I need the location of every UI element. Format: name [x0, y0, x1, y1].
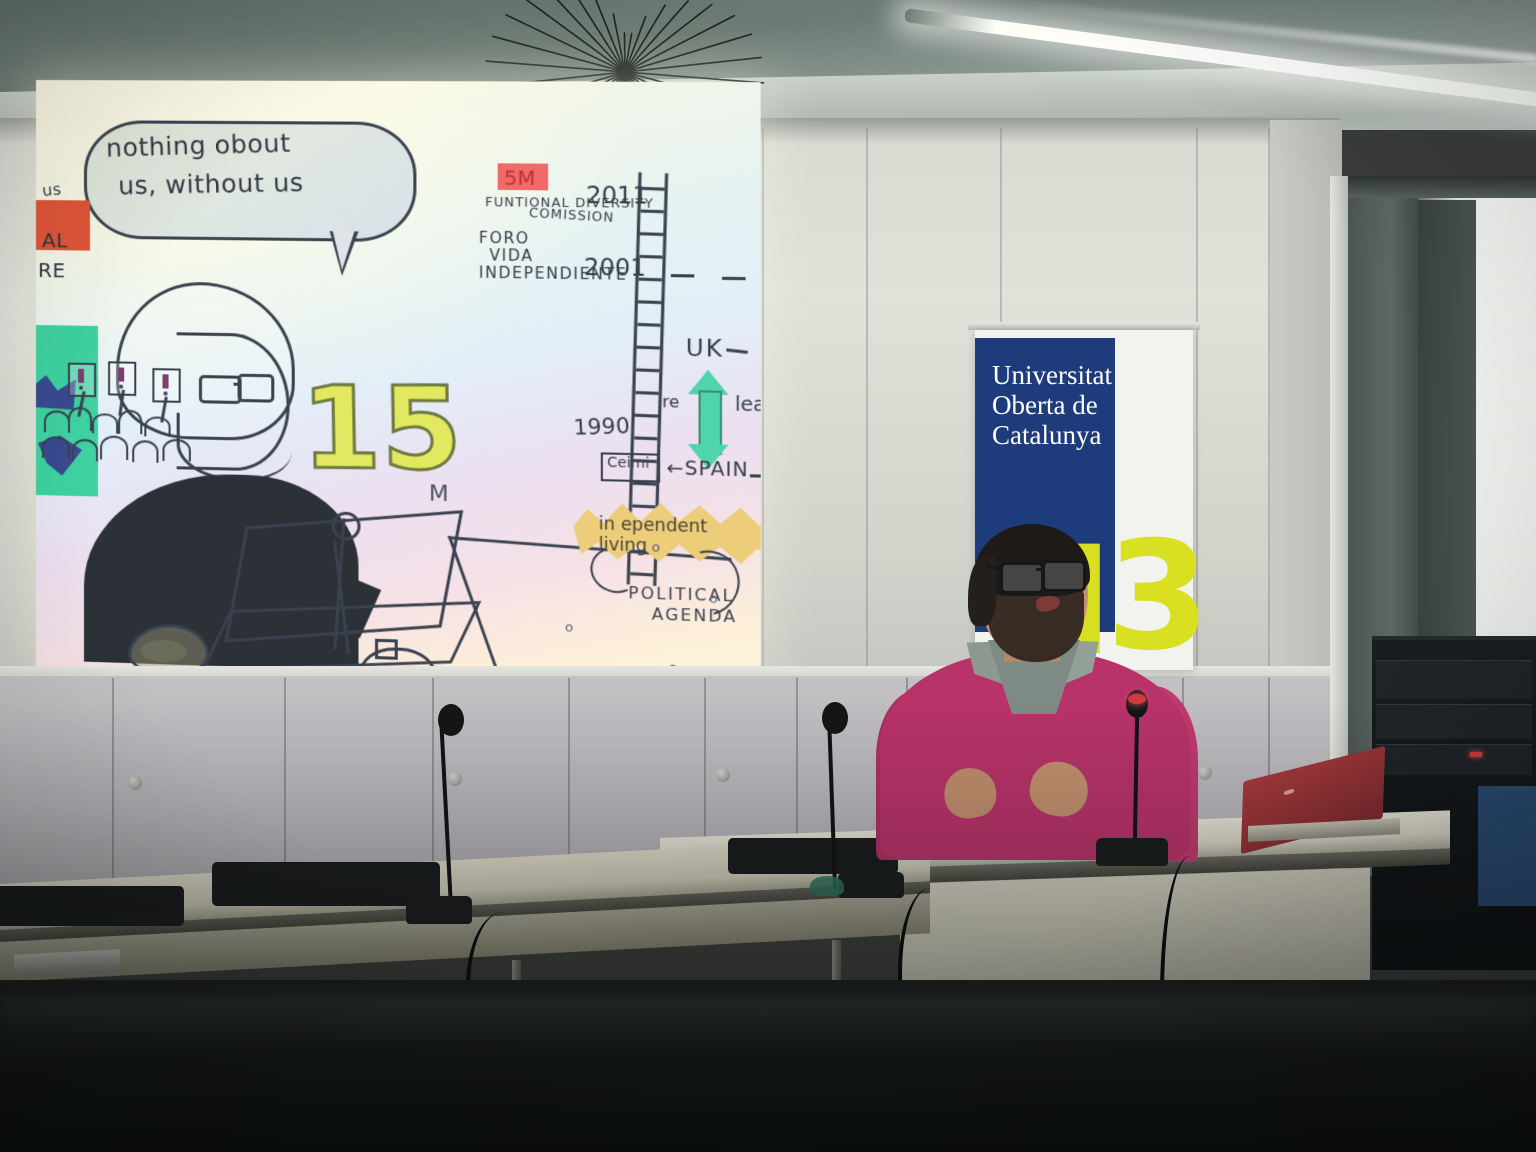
projected-slide: nothing obout us, without us us AL RE 15… [36, 80, 761, 692]
sketch-crowd [72, 439, 98, 462]
sketch-glasses-bridge [233, 383, 241, 386]
microphone-base-accent [810, 876, 844, 896]
av-rack-unit [1376, 744, 1532, 775]
presentation-room-photo: nothing obout us, without us us AL RE 15… [0, 0, 1536, 1152]
microphone-base[interactable] [838, 872, 904, 898]
wall-seam [1268, 128, 1270, 688]
microphone-capsule [438, 704, 464, 736]
wall-seam [866, 128, 868, 688]
slide-cut-text-line1: AL [42, 228, 68, 252]
sketch-crowd [118, 410, 142, 435]
speech-bubble-tail-inner [333, 231, 355, 270]
banner-rod [968, 322, 1200, 330]
slide-cut-text-top: us [41, 179, 62, 200]
sketch-crowd [162, 439, 190, 462]
slide-5m-tag-label: 5M [504, 165, 535, 190]
slide-big-number-subscript: M [429, 481, 449, 507]
slide-dash [750, 474, 761, 477]
chair-backrest[interactable] [0, 886, 184, 926]
slide-dash [671, 274, 694, 277]
microphone-active-indicator [1128, 694, 1146, 704]
av-rack-unit [1376, 660, 1532, 699]
av-rack-status-led [1470, 752, 1482, 757]
sketch-person-beard [177, 413, 292, 483]
slide-big-number: 15 [300, 372, 463, 487]
window-head-rail [1330, 176, 1536, 198]
speaker-glasses-right-lens [1042, 560, 1086, 592]
sketch-glasses-left-lens [199, 375, 242, 404]
sketch-crowd [100, 435, 128, 460]
uoc-line2: Oberta de [992, 390, 1132, 420]
av-rack-blue-case [1478, 786, 1536, 906]
microphone-base[interactable] [1096, 838, 1168, 866]
wall-seam [762, 128, 764, 688]
slide-dash [726, 348, 748, 353]
slide-cut-text-line2: RE [38, 258, 66, 282]
sketch-mic-head [332, 511, 361, 540]
microphone-capsule [822, 702, 848, 734]
floor-reflection [0, 996, 1536, 1056]
speech-bubble-line1: nothing obout [106, 128, 292, 162]
slide-learning-label: learning [735, 393, 761, 417]
sketch-crowd [44, 410, 70, 433]
cabinet-knob[interactable] [128, 776, 142, 790]
slide-spain-text: SPAIN [685, 457, 749, 481]
slide-spain-arrow-icon: ← [667, 457, 685, 480]
cabinet-knob[interactable] [448, 772, 462, 786]
slide-uk-label: UK [686, 335, 724, 363]
slide-dot: o [709, 591, 718, 607]
sketch-crowd [92, 413, 118, 434]
speech-bubble-line2: us, without us [118, 168, 304, 201]
sketch-crowd [68, 407, 92, 432]
slide-bidirectional-arrow-icon [688, 369, 729, 469]
chair-backrest[interactable] [728, 838, 898, 874]
speaker-glasses-left-lens [1000, 562, 1044, 594]
slide-spain-label: ←SPAIN [667, 457, 749, 482]
uoc-line1: Universitat [992, 360, 1132, 390]
uoc-banner-title: Universitat Oberta de Catalunya [992, 360, 1132, 451]
speaker-glasses-bridge [1036, 568, 1044, 571]
microphone-base[interactable] [406, 896, 472, 924]
slide-year-1990: 1990 [573, 413, 631, 439]
av-rack-unit [1376, 704, 1532, 739]
sketch-mic-base-top [375, 639, 398, 660]
in3-logo-3: 3 [1106, 530, 1210, 665]
sketch-crowd [144, 416, 170, 437]
slide-dash [722, 277, 746, 280]
slide-dot: o [565, 620, 573, 636]
sketch-crowd [42, 436, 70, 459]
cabinet-knob[interactable] [1198, 766, 1212, 780]
uoc-line3: Catalunya [992, 420, 1132, 450]
cabinet-knob[interactable] [716, 768, 730, 782]
sketch-crowd [132, 440, 158, 463]
slide-re-prefix: re [662, 392, 679, 412]
sketch-glasses-right-lens [238, 374, 275, 403]
slide-dot: o [652, 540, 660, 556]
